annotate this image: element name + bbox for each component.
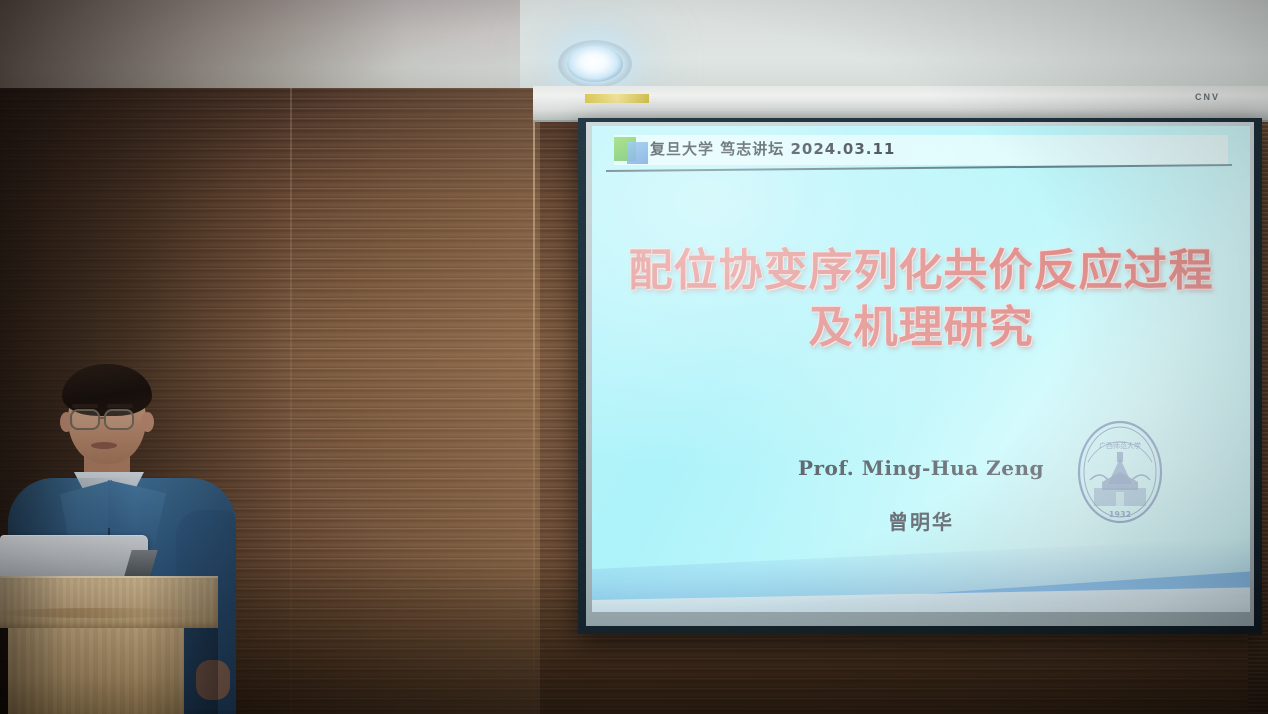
university-seal-icon: 广西师范大学 1932	[1074, 418, 1166, 526]
fudan-mark-logo-icon	[614, 137, 648, 169]
speaker-ear	[141, 412, 154, 432]
housing-sticker	[585, 94, 649, 103]
slide-title-line2: 及机理研究	[592, 299, 1250, 356]
glasses-icon	[70, 409, 100, 430]
svg-text:广西师范大学: 广西师范大学	[1099, 441, 1141, 450]
speaker-eyebrow	[72, 404, 98, 408]
projection-screen-housing: CNV	[533, 86, 1268, 122]
presentation-slide[interactable]: 复旦大学 笃志讲坛 2024.03.11 配位协变序列化共价反应过程 及机理研究…	[592, 126, 1250, 612]
ceiling-downlight-icon	[567, 46, 623, 82]
speaker-eyebrow	[107, 404, 133, 408]
speaker-mouth	[91, 442, 117, 449]
lecture-hall-scene: CNV 复旦大学 笃志讲坛 2024.03.11 配位协变序列化共价反应过程 及…	[0, 0, 1268, 714]
slide-title-line1: 配位协变序列化共价反应过程	[592, 242, 1250, 299]
screen-glare	[592, 126, 1250, 612]
glasses-bridge	[100, 417, 105, 419]
svg-text:1932: 1932	[1109, 510, 1131, 519]
slide-header-text: 复旦大学 笃志讲坛 2024.03.11	[650, 138, 895, 159]
podium-shading	[0, 576, 218, 714]
podium	[0, 576, 218, 714]
slide-title: 配位协变序列化共价反应过程 及机理研究	[592, 242, 1250, 356]
slide-header-rule	[606, 164, 1232, 172]
glasses-icon	[104, 409, 134, 430]
housing-brand-label: CNV	[1195, 92, 1220, 102]
